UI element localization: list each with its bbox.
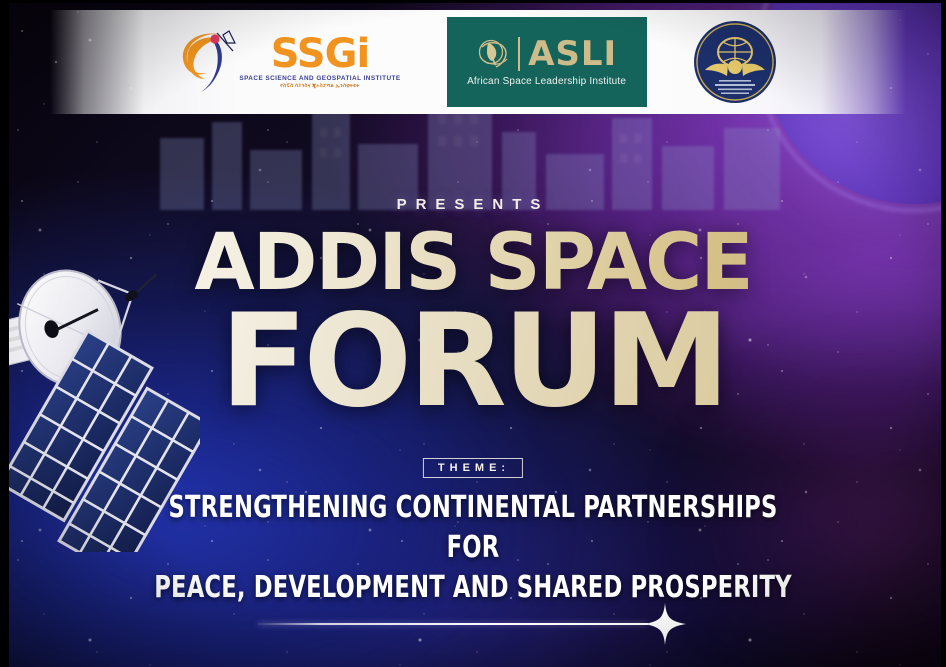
asli-lockup: ASLI	[476, 37, 617, 71]
event-poster: SSGi SPACE SCIENCE AND GEOSPATIAL INSTIT…	[0, 0, 946, 667]
star-divider	[0, 601, 946, 647]
asli-wordmark: ASLI	[528, 37, 617, 71]
ssgi-wordmark: SSGi	[271, 35, 369, 73]
frame-left	[0, 0, 9, 667]
logo-asli: ASLI African Space Leadership Institute	[447, 17, 647, 107]
asli-globe-icon	[476, 37, 510, 71]
theme-line: FOR	[76, 528, 871, 568]
ssgi-text-block: SSGi SPACE SCIENCE AND GEOSPATIAL INSTIT…	[239, 35, 400, 89]
sponsor-logo-banner: SSGi SPACE SCIENCE AND GEOSPATIAL INSTIT…	[50, 10, 906, 114]
asli-divider-bar	[518, 37, 520, 71]
ssgi-subtitle-amharic: የስፔስ ሳይንስና ጂኦስፓሻል ኢንስቲትዩት	[280, 83, 359, 89]
theme-line: STRENGTHENING CONTINENTAL PARTNERSHIPS	[76, 488, 871, 528]
ssgi-mark-icon	[179, 29, 241, 95]
logo-ssgi: SSGi SPACE SCIENCE AND GEOSPATIAL INSTIT…	[179, 29, 400, 95]
theme-label-badge: THEME:	[423, 458, 523, 478]
frame-right	[941, 0, 946, 667]
ssgi-subtitle: SPACE SCIENCE AND GEOSPATIAL INSTITUTE	[239, 75, 400, 82]
asli-subtitle: African Space Leadership Institute	[467, 76, 626, 87]
frame-top	[0, 0, 946, 3]
poster-title-line-2: FORUM	[0, 298, 946, 426]
logo-institute-seal	[693, 20, 777, 104]
presents-label: PRESENTS	[0, 196, 946, 213]
divider-line	[258, 623, 648, 626]
theme-text-block: STRENGTHENING CONTINENTAL PARTNERSHIPS F…	[0, 488, 946, 608]
sparkle-star-icon	[642, 601, 688, 647]
